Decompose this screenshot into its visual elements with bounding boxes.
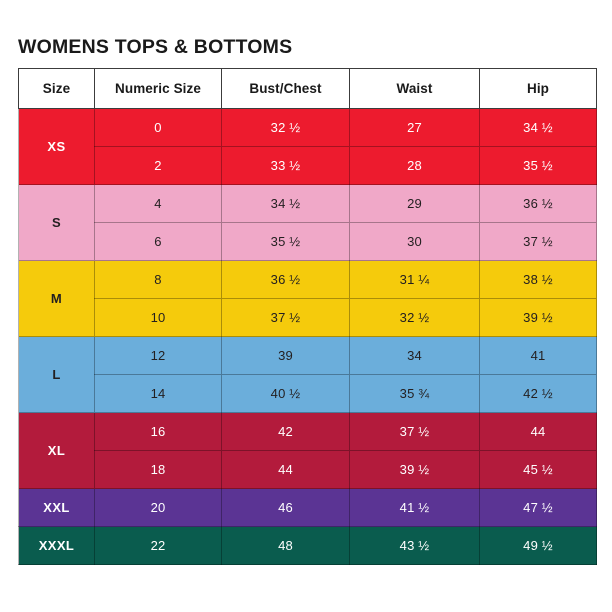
cell-waist: 35 ¾ xyxy=(350,375,480,413)
cell-hip: 42 ½ xyxy=(480,375,597,413)
cell-bust-chest: 36 ½ xyxy=(222,261,350,299)
cell-waist: 39 ½ xyxy=(350,451,480,489)
cell-bust-chest: 32 ½ xyxy=(222,109,350,147)
size-label-xl: XL xyxy=(19,413,95,489)
cell-numeric-size: 12 xyxy=(95,337,222,375)
table-row: XL164237 ½44 xyxy=(19,413,597,451)
cell-waist: 34 xyxy=(350,337,480,375)
cell-waist: 31 ¼ xyxy=(350,261,480,299)
cell-waist: 32 ½ xyxy=(350,299,480,337)
cell-numeric-size: 16 xyxy=(95,413,222,451)
table-row: XXL204641 ½47 ½ xyxy=(19,489,597,527)
cell-bust-chest: 48 xyxy=(222,527,350,565)
cell-waist: 37 ½ xyxy=(350,413,480,451)
cell-bust-chest: 42 xyxy=(222,413,350,451)
table-row: 233 ½2835 ½ xyxy=(19,147,597,185)
cell-numeric-size: 4 xyxy=(95,185,222,223)
cell-numeric-size: 18 xyxy=(95,451,222,489)
cell-hip: 41 xyxy=(480,337,597,375)
cell-waist: 41 ½ xyxy=(350,489,480,527)
cell-numeric-size: 20 xyxy=(95,489,222,527)
size-label-l: L xyxy=(19,337,95,413)
size-label-s: S xyxy=(19,185,95,261)
cell-waist: 27 xyxy=(350,109,480,147)
cell-bust-chest: 44 xyxy=(222,451,350,489)
cell-waist: 30 xyxy=(350,223,480,261)
cell-bust-chest: 34 ½ xyxy=(222,185,350,223)
table-row: 635 ½3037 ½ xyxy=(19,223,597,261)
column-header-size: Size xyxy=(19,69,95,109)
column-header-waist: Waist xyxy=(350,69,480,109)
cell-hip: 49 ½ xyxy=(480,527,597,565)
table-row: 1440 ½35 ¾42 ½ xyxy=(19,375,597,413)
cell-bust-chest: 33 ½ xyxy=(222,147,350,185)
size-label-xxxl: XXXL xyxy=(19,527,95,565)
cell-numeric-size: 22 xyxy=(95,527,222,565)
cell-waist: 29 xyxy=(350,185,480,223)
table-row: M836 ½31 ¼38 ½ xyxy=(19,261,597,299)
size-chart-page: WOMENS TOPS & BOTTOMS Size Numeric Size … xyxy=(0,0,612,612)
table-row: XS032 ½2734 ½ xyxy=(19,109,597,147)
table-row: XXXL224843 ½49 ½ xyxy=(19,527,597,565)
size-label-xxl: XXL xyxy=(19,489,95,527)
cell-hip: 38 ½ xyxy=(480,261,597,299)
cell-bust-chest: 37 ½ xyxy=(222,299,350,337)
cell-hip: 37 ½ xyxy=(480,223,597,261)
column-header-bust-chest: Bust/Chest xyxy=(222,69,350,109)
cell-hip: 44 xyxy=(480,413,597,451)
size-label-xs: XS xyxy=(19,109,95,185)
table-body: XS032 ½2734 ½233 ½2835 ½S434 ½2936 ½635 … xyxy=(19,109,597,565)
table-row: L12393441 xyxy=(19,337,597,375)
column-header-numeric-size: Numeric Size xyxy=(95,69,222,109)
cell-numeric-size: 14 xyxy=(95,375,222,413)
cell-numeric-size: 8 xyxy=(95,261,222,299)
cell-numeric-size: 0 xyxy=(95,109,222,147)
cell-hip: 34 ½ xyxy=(480,109,597,147)
page-title: WOMENS TOPS & BOTTOMS xyxy=(18,36,292,59)
cell-hip: 45 ½ xyxy=(480,451,597,489)
table-row: S434 ½2936 ½ xyxy=(19,185,597,223)
size-label-m: M xyxy=(19,261,95,337)
cell-hip: 36 ½ xyxy=(480,185,597,223)
cell-bust-chest: 46 xyxy=(222,489,350,527)
cell-hip: 35 ½ xyxy=(480,147,597,185)
cell-bust-chest: 35 ½ xyxy=(222,223,350,261)
cell-waist: 43 ½ xyxy=(350,527,480,565)
cell-bust-chest: 40 ½ xyxy=(222,375,350,413)
column-header-hip: Hip xyxy=(480,69,597,109)
cell-waist: 28 xyxy=(350,147,480,185)
table-row: 1037 ½32 ½39 ½ xyxy=(19,299,597,337)
table-header-row: Size Numeric Size Bust/Chest Waist Hip xyxy=(19,69,597,109)
table-row: 184439 ½45 ½ xyxy=(19,451,597,489)
cell-hip: 39 ½ xyxy=(480,299,597,337)
cell-numeric-size: 10 xyxy=(95,299,222,337)
size-chart-table: Size Numeric Size Bust/Chest Waist Hip X… xyxy=(18,68,597,565)
cell-bust-chest: 39 xyxy=(222,337,350,375)
cell-numeric-size: 6 xyxy=(95,223,222,261)
cell-numeric-size: 2 xyxy=(95,147,222,185)
cell-hip: 47 ½ xyxy=(480,489,597,527)
